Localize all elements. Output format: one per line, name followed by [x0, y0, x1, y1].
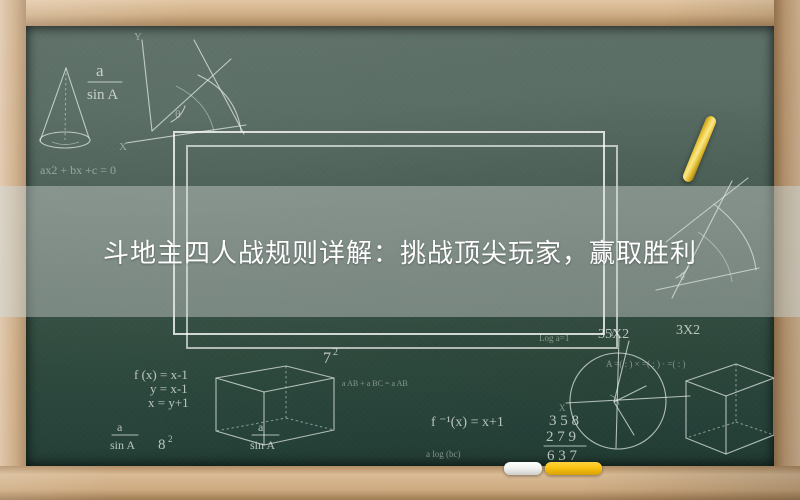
svg-text:2 7 9: 2 7 9 [546, 429, 576, 445]
title-overlay-band: 斗地主四人战规则详解：挑战顶尖玩家，赢取胜利 [0, 186, 800, 317]
inverse-function: f ⁻¹(x) = x+1 [431, 415, 504, 430]
svg-text:7: 7 [323, 350, 331, 367]
svg-text:f (x) = x-1: f (x) = x-1 [134, 367, 188, 382]
small-ab-expression: a AB + a BC = a AB [342, 379, 408, 388]
svg-text:X: X [119, 141, 127, 153]
eight-squared: 8 2 [158, 434, 173, 453]
svg-text:y = x-1: y = x-1 [150, 381, 188, 396]
wireframe-cube-left [216, 366, 334, 445]
svg-text:8: 8 [158, 437, 166, 453]
svg-text:X: X [559, 403, 566, 413]
svg-text:x = y+1: x = y+1 [148, 395, 189, 410]
svg-text:2: 2 [168, 434, 173, 444]
a-log-bc: a log (bc) [426, 449, 460, 459]
number-matrix: 3 5 8 2 7 9 6 3 7 [544, 413, 586, 464]
fraction-a-over-sinA-2: a sin A [110, 420, 138, 452]
function-equations: f (x) = x-1 y = x-1 x = y+1 [134, 367, 189, 410]
fraction-a-over-sinA-1: a sin A [87, 61, 122, 103]
yellow-chalk-piece [545, 462, 602, 475]
page-title: 斗地主四人战规则详解：挑战顶尖玩家，赢取胜利 [103, 233, 697, 270]
quadratic-equation: ax2 + bx +c = 0 [40, 163, 116, 177]
svg-text:sin A: sin A [87, 87, 118, 103]
frame-bevel-top [0, 0, 800, 26]
white-chalk-piece [504, 462, 542, 475]
svg-text:sin A: sin A [250, 438, 275, 452]
svg-text:a: a [96, 61, 104, 80]
svg-text:sin A: sin A [110, 438, 135, 452]
svg-text:a: a [117, 420, 123, 434]
wireframe-cube-right [686, 364, 774, 454]
svg-text:a: a [258, 420, 264, 434]
title-card-image: a sin A Y X θ ax2 [0, 0, 800, 500]
seven-squared: 7 2 [323, 347, 338, 367]
label-3x2: 3X2 [676, 323, 700, 338]
cone-diagram [40, 68, 90, 148]
svg-text:θ: θ [175, 107, 181, 121]
svg-text:Y: Y [134, 31, 142, 43]
frame-bevel-bottom [0, 466, 800, 500]
